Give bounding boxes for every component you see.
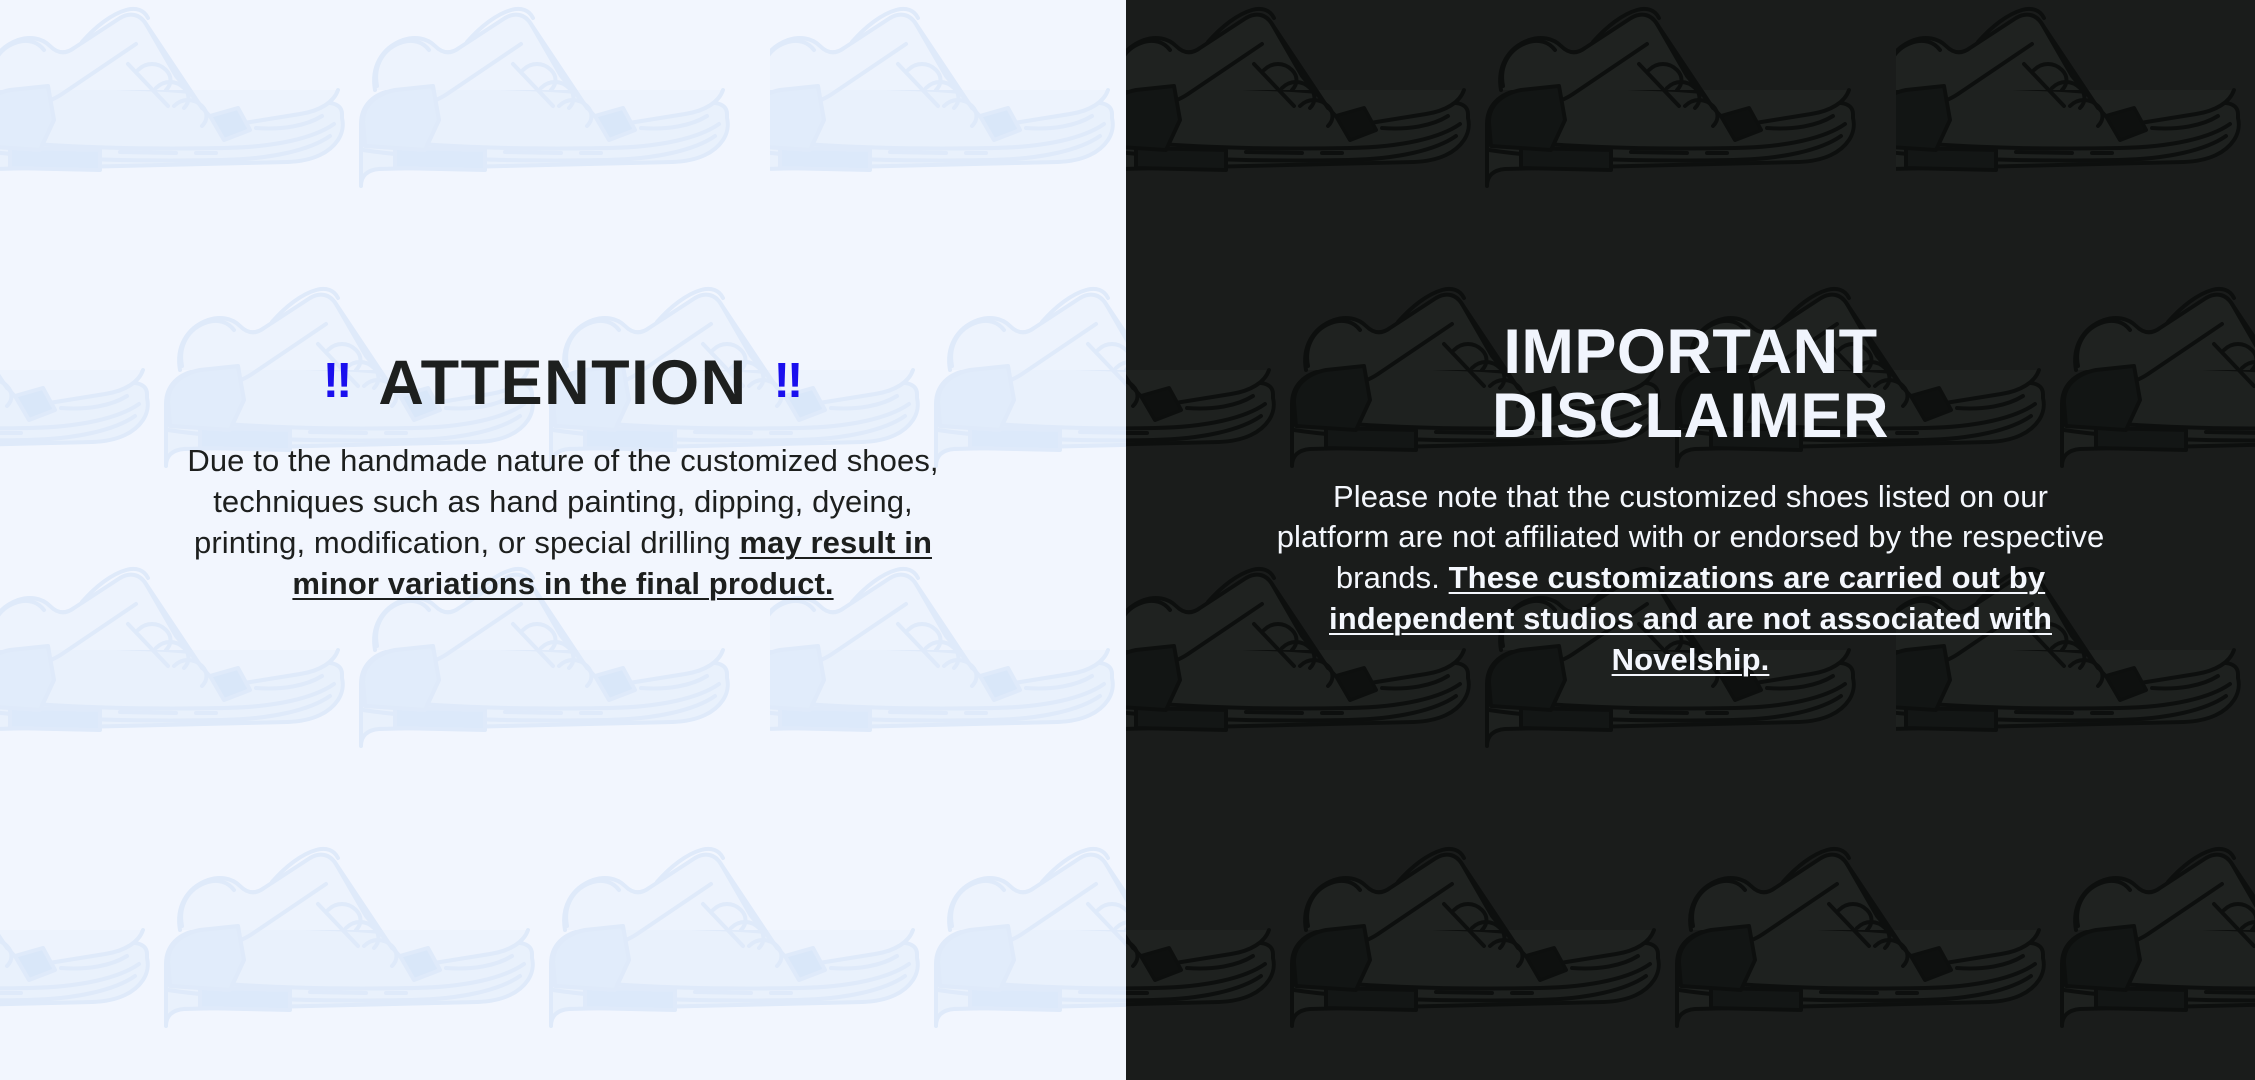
- attention-body: Due to the handmade nature of the custom…: [163, 441, 963, 605]
- attention-content: ‼ ATTENTION ‼ Due to the handmade nature…: [0, 352, 1126, 605]
- attention-heading-text: ATTENTION: [378, 352, 747, 415]
- attention-panel: ‼ ATTENTION ‼ Due to the handmade nature…: [0, 0, 1126, 1080]
- customization-notice-banner: ‼ ATTENTION ‼ Due to the handmade nature…: [0, 0, 2255, 1080]
- disclaimer-heading-line1: IMPORTANT: [1503, 317, 1877, 387]
- disclaimer-content: IMPORTANT DISCLAIMER Please note that th…: [1126, 320, 2255, 681]
- disclaimer-heading: IMPORTANT DISCLAIMER: [1276, 320, 2105, 449]
- disclaimer-heading-line2: DISCLAIMER: [1492, 381, 1889, 451]
- double-exclamation-right-icon: ‼: [774, 357, 804, 406]
- disclaimer-panel: IMPORTANT DISCLAIMER Please note that th…: [1126, 0, 2255, 1080]
- disclaimer-body: Please note that the customized shoes li…: [1276, 477, 2105, 682]
- double-exclamation-left-icon: ‼: [323, 357, 353, 406]
- attention-heading: ‼ ATTENTION ‼: [128, 352, 998, 415]
